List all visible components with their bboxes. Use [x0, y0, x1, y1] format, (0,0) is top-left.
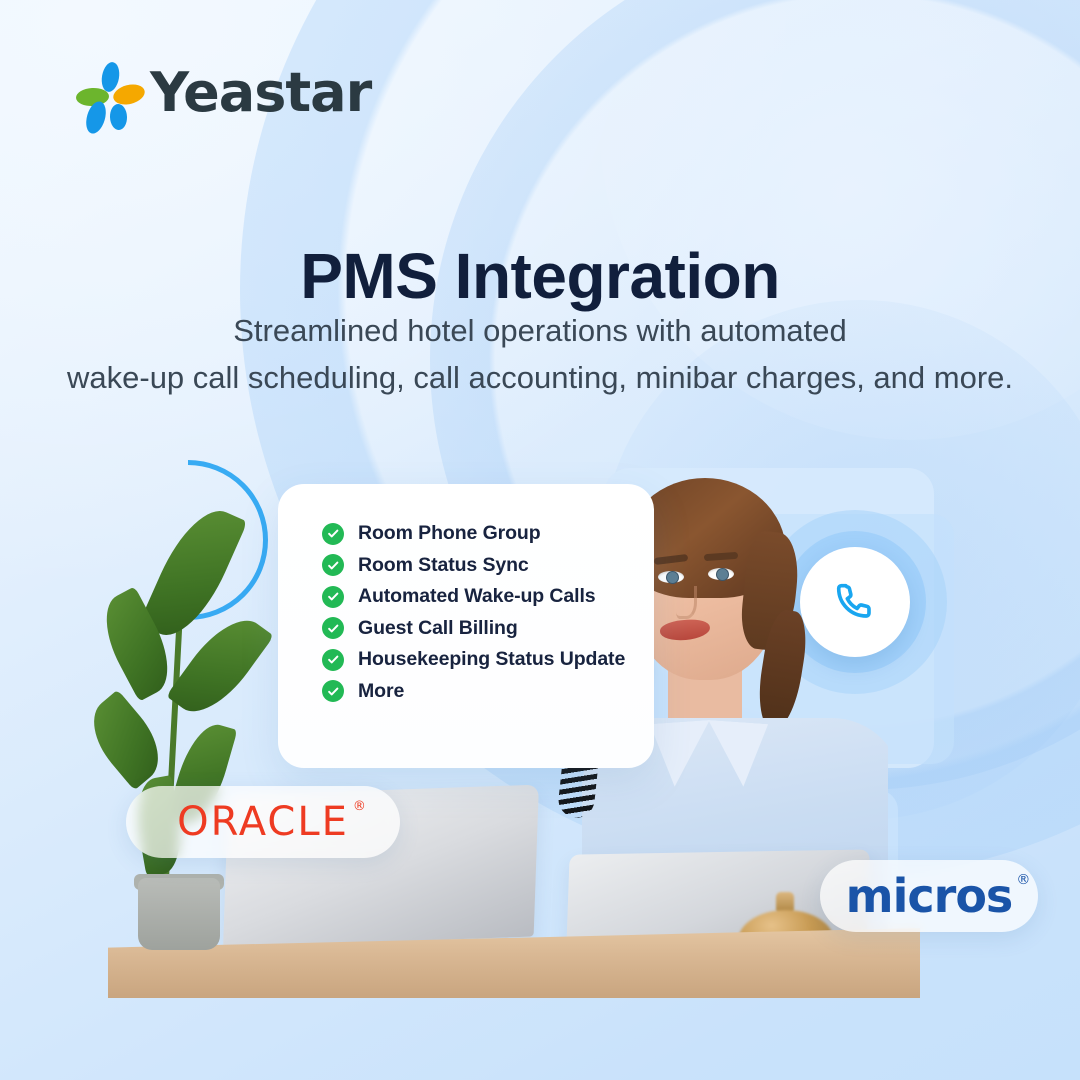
poster-canvas: Yeastar PMS Integration Streamlined hote… — [0, 0, 1080, 1080]
check-icon — [327, 559, 340, 572]
check-icon — [327, 527, 340, 540]
feature-label: More — [358, 680, 404, 703]
plant-leaf — [78, 690, 174, 791]
subject-iris-left — [666, 571, 679, 584]
list-item: Room Status Sync — [322, 550, 654, 582]
feature-label: Room Status Sync — [358, 554, 529, 577]
partner-badge-oracle: ORACLE® — [126, 786, 400, 858]
subtitle-line-1: Streamlined hotel operations with automa… — [0, 308, 1080, 355]
yeastar-flower-logo-icon — [78, 62, 136, 124]
feature-label: Housekeeping Status Update — [358, 648, 625, 671]
micros-name: micros — [846, 869, 1013, 923]
feature-card: Room Phone Group Room Status Sync Automa… — [278, 484, 654, 768]
page-title: PMS Integration — [0, 239, 1080, 313]
subtitle-line-2: wake-up call scheduling, call accounting… — [0, 355, 1080, 402]
feature-label: Room Phone Group — [358, 522, 541, 545]
page-subtitle: Streamlined hotel operations with automa… — [0, 308, 1080, 401]
check-icon — [327, 622, 340, 635]
brand-logo: Yeastar — [78, 62, 371, 124]
micros-logo-text: micros® — [846, 873, 1013, 919]
list-item: Room Phone Group — [322, 518, 654, 550]
brand-wordmark: Yeastar — [150, 66, 371, 120]
plant-pot — [138, 878, 220, 950]
list-item: More — [322, 676, 654, 708]
registered-mark: ® — [353, 800, 366, 813]
subject-iris-right — [716, 568, 729, 581]
check-icon — [327, 590, 340, 603]
feature-label: Automated Wake-up Calls — [358, 585, 596, 608]
check-icon — [327, 685, 340, 698]
check-circle-icon — [322, 617, 344, 639]
list-item: Automated Wake-up Calls — [322, 581, 654, 613]
check-circle-icon — [322, 554, 344, 576]
check-icon — [327, 653, 340, 666]
registered-mark: ® — [1016, 873, 1030, 887]
list-item: Housekeeping Status Update — [322, 644, 654, 676]
check-circle-icon — [322, 586, 344, 608]
check-circle-icon — [322, 649, 344, 671]
oracle-logo-text: ORACLE® — [177, 802, 349, 842]
check-circle-icon — [322, 680, 344, 702]
subject-nose — [676, 586, 697, 619]
oracle-name: ORACLE — [177, 799, 349, 845]
feature-list: Room Phone Group Room Status Sync Automa… — [278, 518, 654, 707]
partner-badge-micros: micros® — [820, 860, 1038, 932]
list-item: Guest Call Billing — [322, 613, 654, 645]
logo-petal-bottom-middle — [110, 104, 128, 131]
check-circle-icon — [322, 523, 344, 545]
feature-label: Guest Call Billing — [358, 617, 518, 640]
